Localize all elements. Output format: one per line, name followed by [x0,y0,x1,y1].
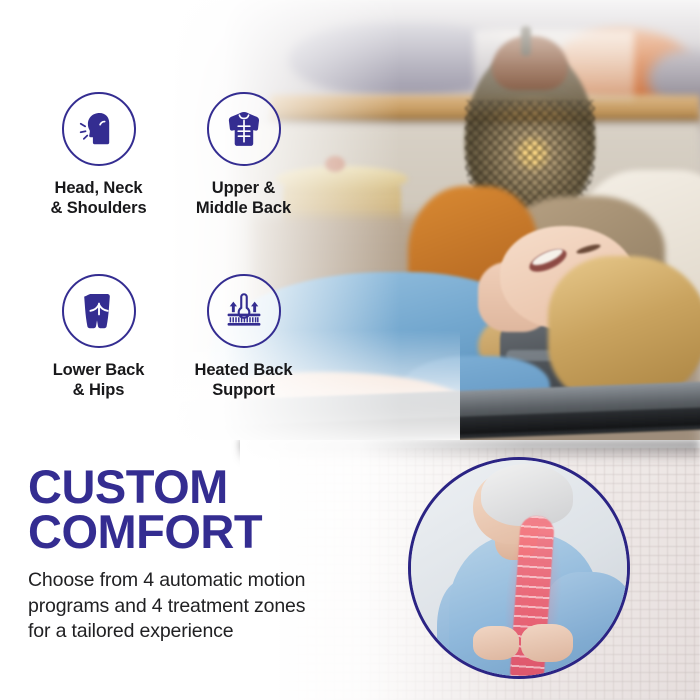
feature-label: Head, Neck & Shoulders [26,178,171,218]
feature-item-upper-middle-back: Upper & Middle Back [171,92,316,218]
photo-lantern-handle [521,26,531,56]
bottom-section: CUSTOM COMFORT Choose from 4 automatic m… [0,440,700,700]
torso-icon [207,92,281,166]
page-subtext: Choose from 4 automatic motion programs … [28,568,388,645]
feature-label: Heated Back Support [171,360,316,400]
hips-icon [62,274,136,348]
feature-label: Upper & Middle Back [171,178,316,218]
feature-item-heated-back-support: Heated Back Support [171,274,316,400]
inset-photo-spine-pain [408,457,630,679]
photo-basket-knob [325,156,345,172]
inset-right-hand [521,624,573,662]
feature-grid: Head, Neck & Shoulders Upper & Middle Ba… [26,92,316,401]
page-title: CUSTOM COMFORT [28,464,262,554]
product-feature-poster: Head, Neck & Shoulders Upper & Middle Ba… [0,0,700,700]
thermometer-heating-pad-icon [207,274,281,348]
head-neck-icon [62,92,136,166]
inset-left-hand [473,626,519,660]
feature-label: Lower Back & Hips [26,360,171,400]
feature-item-head-neck-shoulders: Head, Neck & Shoulders [26,92,171,218]
feature-item-lower-back-hips: Lower Back & Hips [26,274,171,400]
